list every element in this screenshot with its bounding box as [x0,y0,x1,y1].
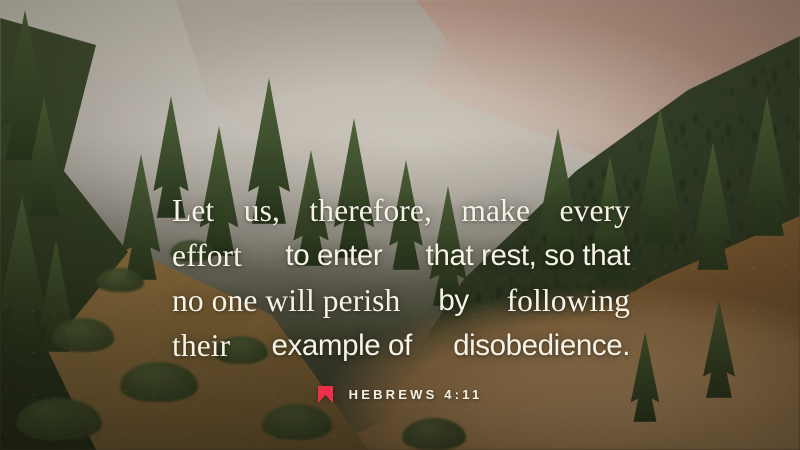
verse-text-block: Let us, therefore, make every effort to … [172,188,630,368]
verse-line-2: effort to enter that rest, so that [172,233,630,278]
verse-word: disobedience. [453,323,630,368]
verse-word: effort [172,233,242,278]
verse-word: to enter [285,233,382,278]
verse-word: therefore, [309,188,432,233]
verse-attribution: HEBREWS 4:11 [0,386,800,403]
verse-word: following [507,278,630,323]
verse-word: Let [172,188,214,233]
verse-word: every [560,188,630,233]
verse-card: Let us, therefore, make every effort to … [0,0,800,450]
verse-word: their [172,323,230,368]
verse-word: by [438,278,468,323]
bookmark-icon [318,386,333,403]
verse-word: us, [244,188,280,233]
verse-word: no one will perish [172,278,400,323]
verse-word: example of [272,323,412,368]
verse-line-1: Let us, therefore, make every [172,188,630,233]
verse-line-4: their example of disobedience. [172,323,630,368]
verse-word: make [461,188,530,233]
verse-word: that rest, so that [426,233,630,278]
verse-line-3: no one will perish by following [172,278,630,323]
verse-reference: HEBREWS 4:11 [349,387,483,402]
